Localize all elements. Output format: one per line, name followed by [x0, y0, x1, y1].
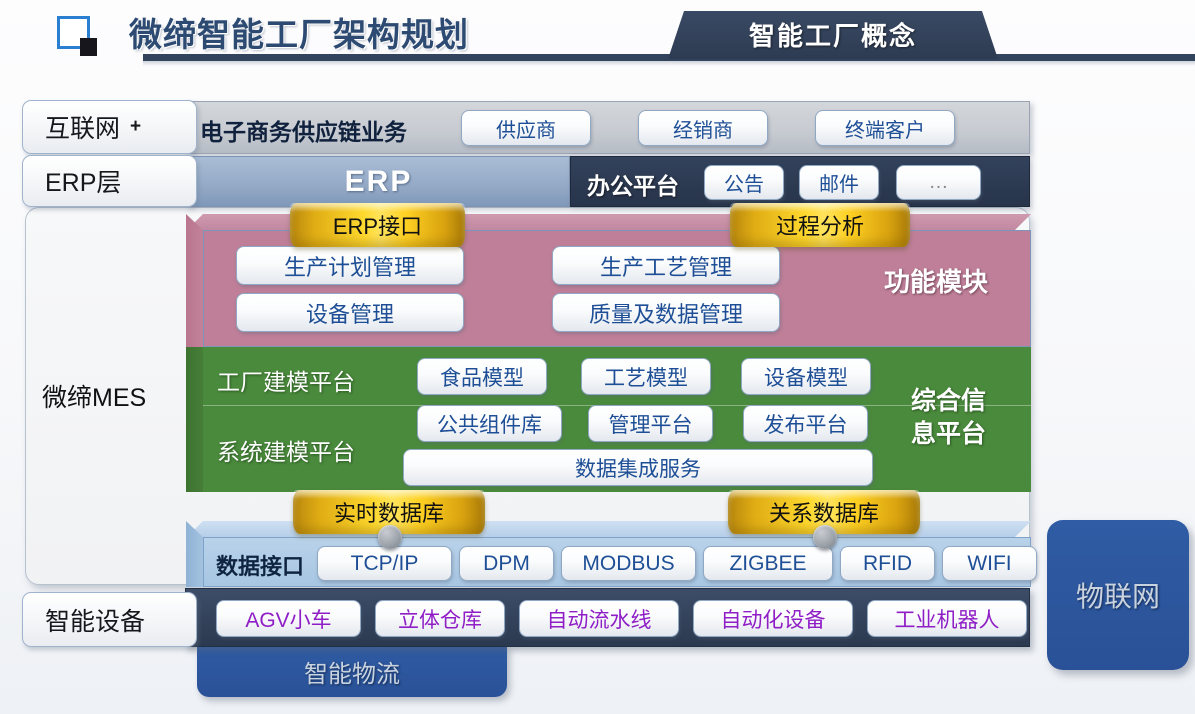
layer-label-smart-equipment-text: 智能设备 — [45, 602, 145, 638]
layer-label-internet-text: 互联网 — [45, 109, 120, 145]
logo-square-filled — [80, 38, 97, 56]
chip-mail[interactable]: 邮件 — [799, 165, 879, 200]
erp-block: ERP — [187, 156, 570, 207]
architecture-diagram-canvas: 微缔智能工厂架构规划 智能工厂概念 互联网 + 电子商务供应链业务 供应商 经销… — [0, 0, 1195, 714]
layer-label-erp: ERP层 — [22, 155, 197, 207]
connector-knob-realtime-database — [378, 525, 402, 549]
functional-module-side-label: 功能模块 — [856, 262, 1016, 299]
smart-logistics-block[interactable]: 智能物流 — [197, 645, 507, 697]
chip-publish-platform[interactable]: 发布平台 — [743, 405, 868, 442]
data-interface-block: 数据接口 TCP/IP DPM MODBUS ZIGBEE RFID WIFI — [203, 537, 1031, 587]
chip-announcement[interactable]: 公告 — [704, 165, 784, 200]
functional-module-block: 生产计划管理 生产工艺管理 设备管理 质量及数据管理 功能模块 — [203, 230, 1031, 347]
cylinder-erp-interface[interactable]: ERP接口 — [290, 203, 465, 247]
equipment-automation-device[interactable]: 自动化设备 — [693, 600, 853, 637]
module-equipment-management[interactable]: 设备管理 — [236, 293, 464, 332]
layer-label-smart-equipment: 智能设备 — [22, 592, 197, 647]
chip-equipment-model[interactable]: 设备模型 — [741, 358, 871, 395]
connector-knob-relational-database — [813, 525, 837, 549]
ecommerce-supplychain-label: 电子商务供应链业务 — [200, 113, 407, 147]
chip-supplier[interactable]: 供应商 — [461, 110, 591, 146]
chip-common-component-library[interactable]: 公共组件库 — [417, 405, 562, 442]
integrated-platform-side-label: 综合信 息平台 — [876, 385, 1021, 451]
iot-panel-label: 物联网 — [1076, 575, 1160, 615]
weidi-logo-icon — [57, 16, 97, 56]
layer-label-internet: 互联网 + — [22, 100, 197, 154]
erp-block-label: ERP — [345, 165, 413, 199]
page-title: 微缔智能工厂架构规划 — [129, 8, 469, 56]
smart-logistics-label: 智能物流 — [304, 654, 400, 689]
iot-panel[interactable]: 物联网 — [1047, 520, 1189, 670]
equipment-industrial-robot[interactable]: 工业机器人 — [867, 600, 1027, 637]
integrated-platform-block: 工厂建模平台 系统建模平台 食品模型 工艺模型 设备模型 公共组件库 管理平台 … — [203, 347, 1031, 492]
module-quality-data-management[interactable]: 质量及数据管理 — [552, 293, 780, 332]
data-interface-label: 数据接口 — [216, 549, 304, 581]
ecommerce-supplychain-bar: 电子商务供应链业务 供应商 经销商 终端客户 — [185, 101, 1030, 154]
protocol-modbus[interactable]: MODBUS — [561, 546, 696, 581]
chip-management-platform[interactable]: 管理平台 — [588, 405, 713, 442]
chip-more[interactable]: … — [896, 165, 981, 200]
protocol-zigbee[interactable]: ZIGBEE — [703, 546, 833, 581]
module-production-planning[interactable]: 生产计划管理 — [236, 246, 464, 285]
system-modeling-platform-label: 系统建模平台 — [217, 433, 355, 467]
protocol-tcpip[interactable]: TCP/IP — [317, 546, 452, 581]
cylinder-process-analysis[interactable]: 过程分析 — [730, 203, 910, 247]
protocol-rfid[interactable]: RFID — [840, 546, 935, 581]
functional-module-side-face — [186, 214, 204, 347]
chip-food-model[interactable]: 食品模型 — [417, 358, 547, 395]
protocol-wifi[interactable]: WIFI — [942, 546, 1037, 581]
chip-data-integration-service[interactable]: 数据集成服务 — [403, 449, 873, 486]
chip-end-customer[interactable]: 终端客户 — [815, 110, 955, 146]
integrated-platform-side-label-line2: 息平台 — [876, 418, 1021, 451]
integrated-platform-side-face — [186, 347, 204, 492]
page-header: 微缔智能工厂架构规划 智能工厂概念 — [0, 0, 1195, 78]
equipment-stereo-warehouse[interactable]: 立体仓库 — [375, 600, 505, 637]
mes-panel-label: 微缔MES — [42, 378, 146, 414]
layer-label-internet-plus: + — [130, 116, 141, 138]
smart-equipment-bar: AGV小车 立体仓库 自动流水线 自动化设备 工业机器人 — [185, 588, 1030, 647]
integrated-platform-side-label-line1: 综合信 — [876, 385, 1021, 418]
office-platform-block: 办公平台 公告 邮件 … — [570, 156, 1030, 207]
protocol-dpm[interactable]: DPM — [459, 546, 554, 581]
chip-distributor[interactable]: 经销商 — [638, 110, 768, 146]
chip-process-model[interactable]: 工艺模型 — [581, 358, 711, 395]
factory-modeling-platform-label: 工厂建模平台 — [217, 363, 355, 397]
module-production-process[interactable]: 生产工艺管理 — [552, 246, 780, 285]
office-platform-label: 办公平台 — [587, 167, 679, 201]
equipment-agv-cart[interactable]: AGV小车 — [216, 600, 361, 637]
tab-smart-factory-concept-label: 智能工厂概念 — [668, 19, 998, 53]
layer-label-erp-text: ERP层 — [45, 163, 121, 199]
equipment-automatic-line[interactable]: 自动流水线 — [519, 600, 679, 637]
